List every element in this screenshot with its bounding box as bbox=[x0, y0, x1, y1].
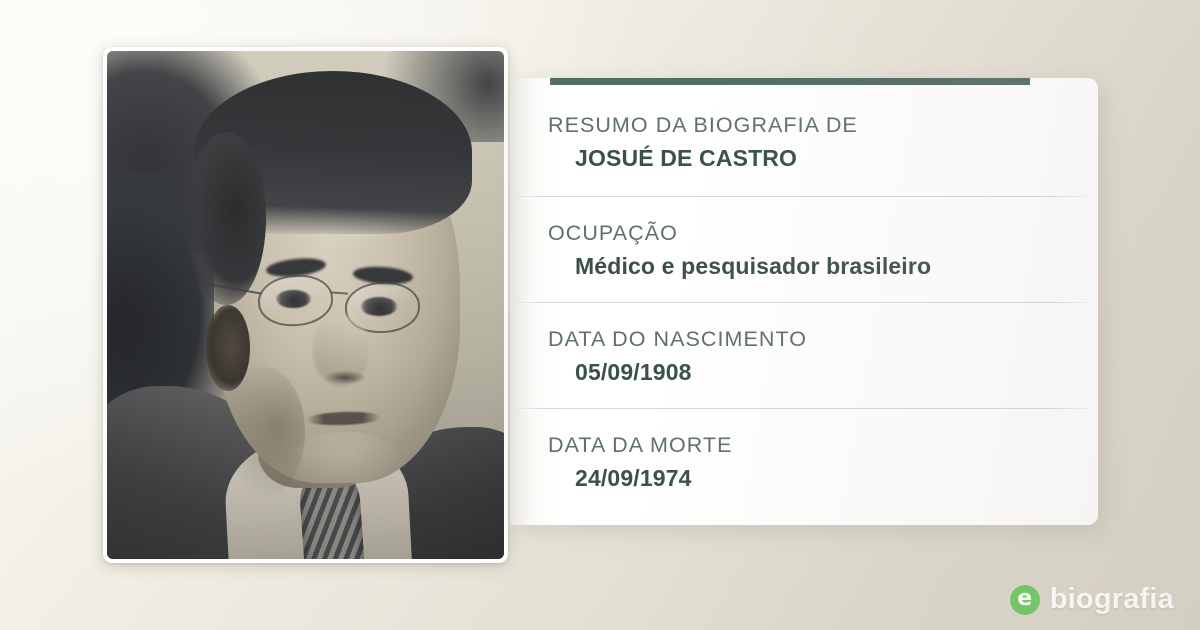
label-occupation: OCUPAÇÃO bbox=[548, 221, 1068, 246]
row-occupation: OCUPAÇÃO Médico e pesquisador brasileiro bbox=[510, 196, 1098, 302]
value-occupation: Médico e pesquisador brasileiro bbox=[548, 253, 1068, 280]
row-death-date: DATA DA MORTE 24/09/1974 bbox=[510, 408, 1098, 514]
ebiografia-wordmark: biografia bbox=[1050, 583, 1174, 616]
value-birth-date: 05/09/1908 bbox=[548, 359, 1068, 386]
value-death-date: 24/09/1974 bbox=[548, 465, 1068, 492]
info-rows: RESUMO DA BIOGRAFIA DE JOSUÉ DE CASTRO O… bbox=[510, 85, 1098, 525]
label-biography-of: RESUMO DA BIOGRAFIA DE bbox=[548, 113, 1068, 138]
card-accent-bar bbox=[550, 78, 1030, 85]
ebiografia-logo[interactable]: e biografia bbox=[1010, 583, 1174, 616]
value-person-name: JOSUÉ DE CASTRO bbox=[548, 145, 1068, 172]
photo-sepia-tone bbox=[107, 51, 504, 559]
biography-summary-card: RESUMO DA BIOGRAFIA DE JOSUÉ DE CASTRO O… bbox=[510, 78, 1098, 525]
portrait-image bbox=[107, 51, 504, 559]
row-biography-title: RESUMO DA BIOGRAFIA DE JOSUÉ DE CASTRO bbox=[510, 85, 1098, 196]
row-birth-date: DATA DO NASCIMENTO 05/09/1908 bbox=[510, 302, 1098, 408]
label-birth-date: DATA DO NASCIMENTO bbox=[548, 327, 1068, 352]
portrait-photo-card bbox=[103, 47, 508, 563]
ebiografia-e-icon: e bbox=[1010, 585, 1040, 615]
page-canvas: RESUMO DA BIOGRAFIA DE JOSUÉ DE CASTRO O… bbox=[0, 0, 1200, 630]
label-death-date: DATA DA MORTE bbox=[548, 433, 1068, 458]
